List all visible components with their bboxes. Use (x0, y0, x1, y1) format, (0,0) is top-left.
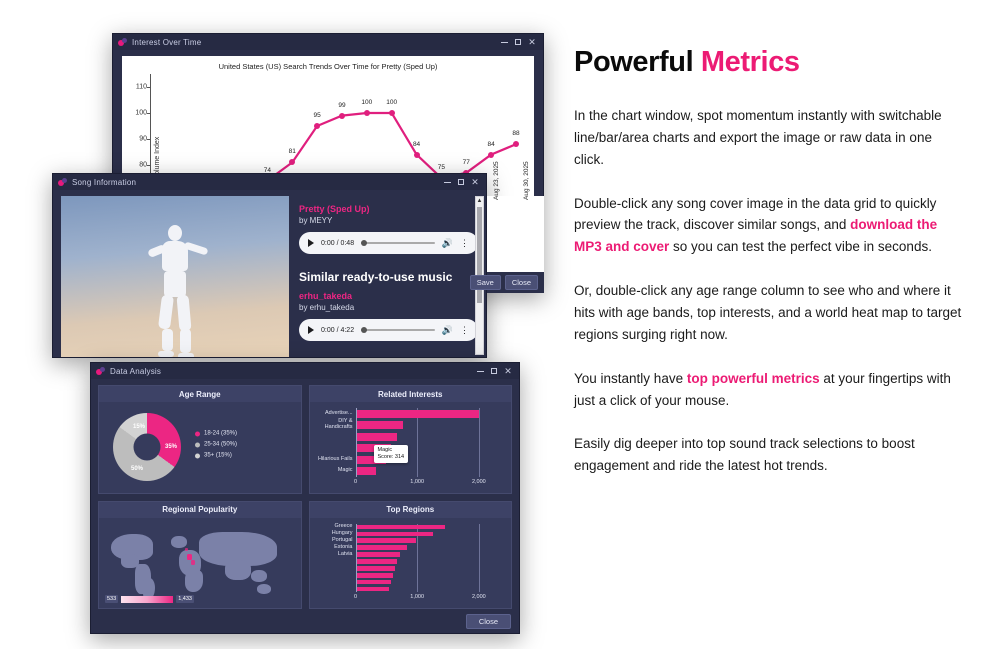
save-button[interactable]: Save (470, 275, 501, 290)
titlebar-interest-over-time[interactable]: Interest Over Time ✕ (113, 34, 543, 50)
category-label: DIY &Handicrafts (325, 419, 353, 431)
data-point-label: 75 (438, 164, 445, 171)
bar[interactable] (357, 545, 408, 550)
p4-part-a: You instantly have (574, 371, 687, 386)
window-title: Data Analysis (110, 367, 472, 376)
bar[interactable] (357, 559, 398, 564)
bar[interactable] (357, 573, 393, 578)
data-point-label: 95 (314, 112, 321, 119)
map-hot-region (185, 548, 188, 551)
data-point[interactable] (364, 110, 370, 116)
x-tick-label: Aug 23, 2025 (493, 161, 500, 200)
tooltip-label: Magic (378, 447, 405, 454)
close-icon[interactable]: ✕ (504, 367, 512, 376)
p2-part-c: so you can test the perfect vibe in seco… (669, 239, 932, 254)
y-tick-mark (147, 113, 150, 114)
player-time: 0:00 / 0:48 (321, 240, 354, 247)
data-point-label: 81 (289, 148, 296, 155)
panel-top-regions: Top Regions 01,0002,000GreeceHungaryPort… (309, 501, 513, 610)
cover-figure-illustration (138, 225, 212, 357)
window-data-analysis[interactable]: Data Analysis ✕ Age Range 35% 50% 15% 18… (90, 362, 520, 634)
data-point[interactable] (513, 141, 519, 147)
minimize-icon[interactable] (477, 371, 484, 372)
data-point-label: 100 (386, 99, 397, 106)
data-point[interactable] (339, 113, 345, 119)
donut-slice-label: 50% (131, 466, 143, 472)
paragraph-3: Or, double-click any age range column to… (574, 280, 962, 346)
x-tick-label: 2,000 (472, 479, 486, 485)
play-icon[interactable] (308, 326, 314, 334)
x-tick-label: 0 (354, 594, 357, 600)
donut-slice-label: 35% (165, 444, 177, 450)
panel-regional-popularity: Regional Popularity (98, 501, 302, 610)
page-title: Powerful Metrics (574, 46, 962, 79)
paragraph-4: You instantly have top powerful metrics … (574, 368, 962, 412)
legend-min: 533 (105, 595, 118, 603)
song-title: Pretty (Sped Up) (299, 204, 478, 214)
similar-music-heading: Similar ready-to-use music (299, 270, 478, 284)
grid-line (417, 408, 418, 477)
audio-player-primary[interactable]: 0:00 / 0:48 🔊 ⋮ (299, 232, 478, 254)
map-hot-region (191, 560, 195, 565)
x-axis-line (356, 408, 357, 477)
regional-popularity-map[interactable]: 533 1,433 (99, 518, 301, 609)
legend-max: 1,433 (176, 595, 194, 603)
category-label: Magic (338, 468, 353, 474)
data-point-label: 84 (413, 141, 420, 148)
y-tick-label: 90 (139, 136, 147, 143)
window-title: Song Information (72, 178, 439, 187)
category-label: Hungary (332, 531, 353, 537)
titlebar-song-information[interactable]: Song Information ✕ (53, 174, 486, 190)
donut-slice-label: 15% (133, 424, 145, 430)
bar[interactable] (357, 580, 392, 585)
legend-label: 18-24 (35%) (204, 431, 237, 437)
legend-swatch-icon (195, 431, 200, 436)
play-icon[interactable] (308, 239, 314, 247)
legend-gradient-bar (121, 596, 173, 603)
legend-label: 35+ (15%) (204, 453, 232, 459)
window-song-information[interactable]: Song Information ✕ Pretty (Spe (52, 173, 487, 358)
song-details: Pretty (Sped Up) by MEYY 0:00 / 0:48 🔊 ⋮… (299, 196, 478, 357)
tooltip-score: Score: 314 (378, 454, 405, 461)
related-interests-chart[interactable]: 01,0002,000Advertise...DIY &HandicraftsH… (310, 402, 512, 493)
paragraph-5: Easily dig deeper into top sound track s… (574, 433, 962, 477)
panel-age-range: Age Range 35% 50% 15% 18-24 (35%) 25-34 … (98, 385, 302, 494)
similar-song-title: erhu_takeda (299, 291, 478, 301)
legend-item: 18-24 (35%) (195, 431, 237, 437)
data-point-label: 99 (338, 102, 345, 109)
song-artist: by MEYY (299, 216, 478, 225)
data-point-label: 84 (488, 141, 495, 148)
minimize-icon[interactable] (444, 182, 451, 183)
y-tick-mark (147, 139, 150, 140)
panel-related-interests: Related Interests 01,0002,000Advertise..… (309, 385, 513, 494)
panel-title: Top Regions (310, 502, 512, 518)
top-regions-chart[interactable]: 01,0002,000GreeceHungaryPortugalEstoniaL… (310, 518, 512, 609)
audio-player-similar[interactable]: 0:00 / 4:22 🔊 ⋮ (299, 319, 478, 341)
x-tick-label: Aug 30, 2025 (523, 161, 530, 200)
category-label: Estonia (334, 545, 352, 551)
grid-line (479, 408, 480, 477)
bar[interactable] (357, 532, 433, 537)
bar[interactable] (357, 421, 404, 429)
bar[interactable] (357, 467, 376, 475)
similar-song-artist: by erhu_takeda (299, 303, 478, 312)
world-heat-map[interactable]: 533 1,433 (99, 518, 301, 609)
more-options-icon[interactable]: ⋮ (460, 238, 469, 249)
category-label: Advertise... (325, 411, 353, 417)
bar[interactable] (357, 538, 416, 543)
p4-highlight: top powerful metrics (687, 371, 820, 386)
y-tick-label: 110 (136, 84, 147, 91)
volume-icon[interactable]: 🔊 (442, 238, 453, 249)
chart-tooltip: Magic Score: 314 (374, 445, 409, 463)
scroll-up-icon[interactable]: ▲ (476, 197, 483, 206)
data-point[interactable] (488, 152, 494, 158)
map-color-legend: 533 1,433 (105, 595, 194, 603)
grid-line (479, 524, 480, 593)
x-tick-label: 0 (354, 479, 357, 485)
bar[interactable] (357, 552, 400, 557)
minimize-icon[interactable] (501, 42, 508, 43)
data-point[interactable] (289, 159, 295, 165)
paragraph-2: Double-click any song cover image in the… (574, 193, 962, 259)
player-progress-slider[interactable] (361, 242, 435, 244)
volume-icon[interactable]: 🔊 (442, 325, 453, 336)
legend-swatch-icon (195, 442, 200, 447)
bar[interactable] (357, 587, 390, 592)
app-logo-icon (58, 178, 67, 187)
app-logo-icon (118, 38, 127, 47)
titlebar-data-analysis[interactable]: Data Analysis ✕ (91, 363, 519, 379)
x-tick-label: 2,000 (472, 594, 486, 600)
bar[interactable] (357, 410, 479, 418)
panel-title: Age Range (99, 386, 301, 402)
legend-swatch-icon (195, 453, 200, 458)
x-tick-label: 1,000 (410, 594, 424, 600)
legend-item: 25-34 (50%) (195, 442, 237, 448)
data-point[interactable] (389, 110, 395, 116)
data-point[interactable] (414, 152, 420, 158)
panel-title: Related Interests (310, 386, 512, 402)
y-tick-mark (147, 87, 150, 88)
data-point-label: 77 (463, 159, 470, 166)
legend-item: 35+ (15%) (195, 453, 237, 459)
y-tick-label: 80 (139, 162, 147, 169)
song-cover-image[interactable] (61, 196, 289, 357)
close-button[interactable]: Close (505, 275, 538, 290)
bar[interactable] (357, 433, 398, 441)
title-normal: Powerful (574, 46, 701, 78)
bar[interactable] (357, 566, 395, 571)
category-label: Hilarious Fails (318, 457, 353, 463)
maximize-icon[interactable] (458, 179, 464, 185)
maximize-icon[interactable] (491, 368, 497, 374)
data-point-label: 88 (512, 130, 519, 137)
legend-label: 25-34 (50%) (204, 442, 237, 448)
y-tick-mark (147, 165, 150, 166)
panel-title: Regional Popularity (99, 502, 301, 518)
player-progress-slider[interactable] (361, 329, 435, 331)
paragraph-1: In the chart window, spot momentum insta… (574, 105, 962, 171)
x-tick-label: 1,000 (410, 479, 424, 485)
age-range-legend: 18-24 (35%) 25-34 (50%) 35+ (15%) (195, 431, 237, 464)
age-range-chart[interactable]: 35% 50% 15% 18-24 (35%) 25-34 (50%) 35+ … (99, 402, 301, 493)
category-label: Latvia (338, 552, 353, 558)
title-accent: Metrics (701, 46, 800, 78)
data-point[interactable] (314, 123, 320, 129)
chart-window-footer: Save Close (487, 272, 544, 293)
data-point-label: 100 (361, 99, 372, 106)
window-title: Interest Over Time (132, 38, 496, 47)
maximize-icon[interactable] (515, 39, 521, 45)
y-tick-label: 100 (135, 110, 147, 117)
app-logo-icon (96, 367, 105, 376)
marketing-copy: Powerful Metrics In the chart window, sp… (574, 46, 962, 499)
more-options-icon[interactable]: ⋮ (460, 325, 469, 336)
chart-title: United States (US) Search Trends Over Ti… (122, 62, 534, 71)
close-button[interactable]: Close (466, 614, 511, 629)
close-icon[interactable]: ✕ (471, 178, 479, 187)
song-information-body: Pretty (Sped Up) by MEYY 0:00 / 0:48 🔊 ⋮… (61, 196, 478, 357)
player-time: 0:00 / 4:22 (321, 327, 354, 334)
close-icon[interactable]: ✕ (528, 38, 536, 47)
map-hot-region (187, 554, 192, 560)
bar[interactable] (357, 525, 445, 530)
category-label: Greece (334, 524, 352, 530)
